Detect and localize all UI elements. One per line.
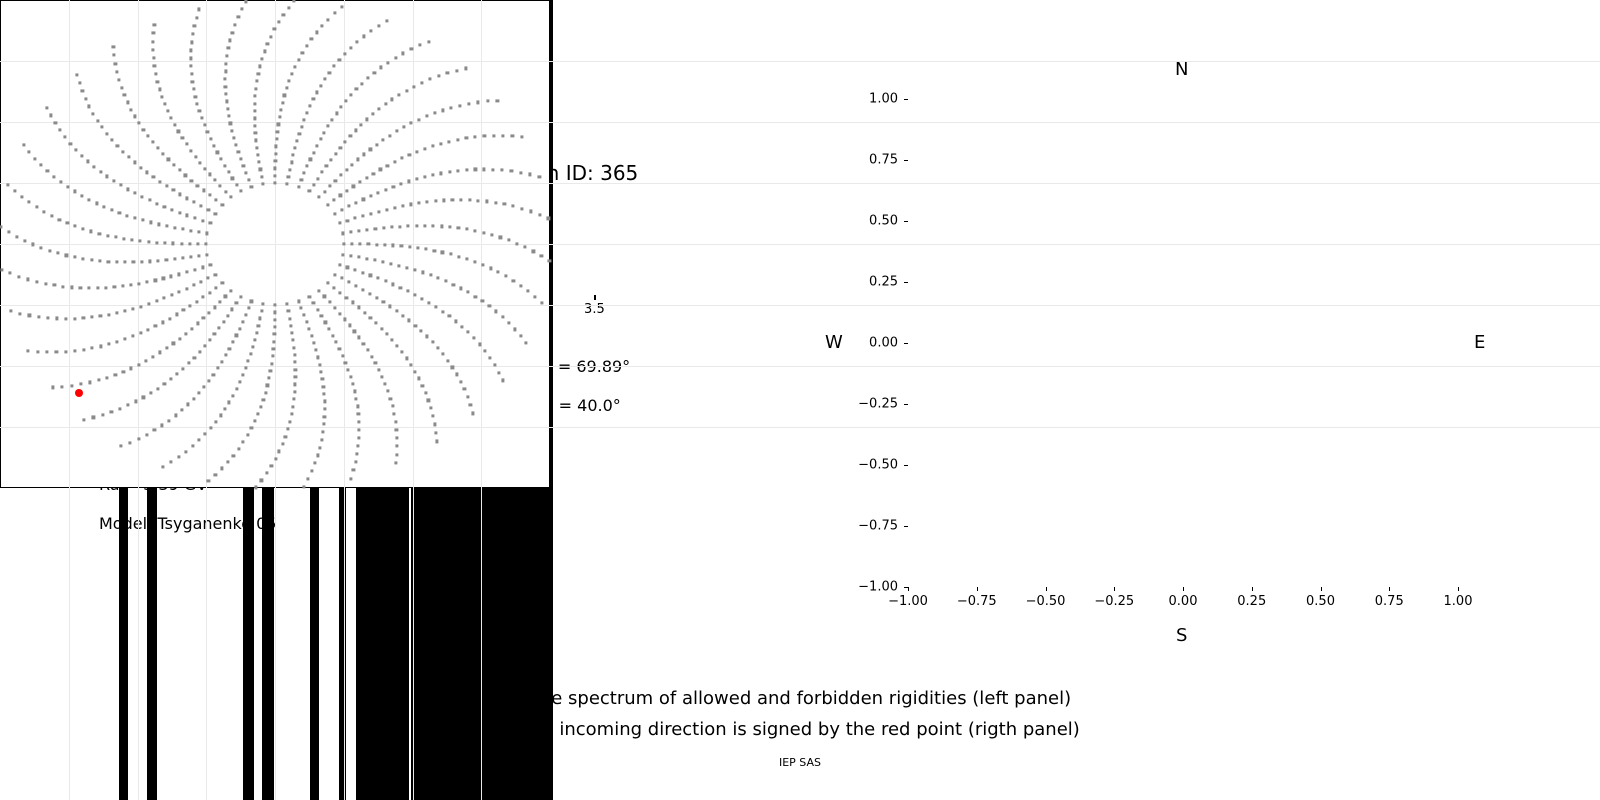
y-axis-tick	[904, 160, 908, 161]
y-axis-tick-label: −0.75	[842, 519, 898, 534]
x-axis-tick	[1252, 587, 1253, 591]
x-axis-tick-label: 0.50	[1306, 594, 1335, 609]
y-axis-tick	[904, 343, 908, 344]
compass-label-south: S	[1176, 625, 1187, 646]
x-axis-tick-label: 0.75	[1375, 594, 1404, 609]
footer-credit: IEP SAS	[0, 756, 1600, 769]
x-axis-tick-label: 0.00	[1169, 594, 1198, 609]
x-axis-tick	[1114, 587, 1115, 591]
x-axis-tick-label: 0.25	[1237, 594, 1266, 609]
incoming-direction-point	[75, 389, 83, 397]
x-axis-tick	[1389, 587, 1390, 591]
compass-label-east: E	[1474, 332, 1485, 353]
y-axis-tick-label: 0.75	[842, 153, 898, 168]
x-axis-tick-label: −0.25	[1094, 594, 1134, 609]
x-axis-tick-label: −0.75	[957, 594, 997, 609]
caption-line-2: The incoming direction is signed by the …	[0, 719, 1600, 740]
x-axis-tick	[1183, 587, 1184, 591]
x-axis-tick	[908, 587, 909, 591]
x-axis-tick-label: −0.50	[1026, 594, 1066, 609]
y-axis-tick	[904, 282, 908, 283]
y-axis-tick-label: 0.25	[842, 275, 898, 290]
y-axis-tick	[904, 465, 908, 466]
y-axis-tick-label: 0.50	[842, 214, 898, 229]
x-axis-tick	[1321, 587, 1322, 591]
y-axis-tick	[904, 99, 908, 100]
right-panel: −1.00−0.75−0.50−0.250.000.250.500.751.00…	[0, 0, 1600, 800]
x-axis-tick-label: 1.00	[1444, 594, 1473, 609]
caption-line-1: The spectrum of allowed and forbidden ri…	[0, 688, 1600, 709]
y-axis-tick-label: 0.00	[842, 336, 898, 351]
y-axis-tick-label: −1.00	[842, 580, 898, 595]
x-axis-tick	[1458, 587, 1459, 591]
x-axis-tick	[977, 587, 978, 591]
y-axis-tick	[904, 587, 908, 588]
y-axis-tick-label: 1.00	[842, 92, 898, 107]
y-axis-tick	[904, 404, 908, 405]
x-axis-tick-label: −1.00	[888, 594, 928, 609]
y-axis-tick-label: −0.50	[842, 458, 898, 473]
x-axis-tick	[1046, 587, 1047, 591]
compass-label-north: N	[1175, 59, 1188, 80]
direction-plot-axes: −1.00−0.75−0.50−0.250.000.250.500.751.00…	[0, 0, 1600, 800]
y-axis-tick	[904, 221, 908, 222]
y-axis-tick	[904, 526, 908, 527]
y-axis-tick-label: −0.25	[842, 397, 898, 412]
compass-label-west: W	[825, 332, 843, 353]
